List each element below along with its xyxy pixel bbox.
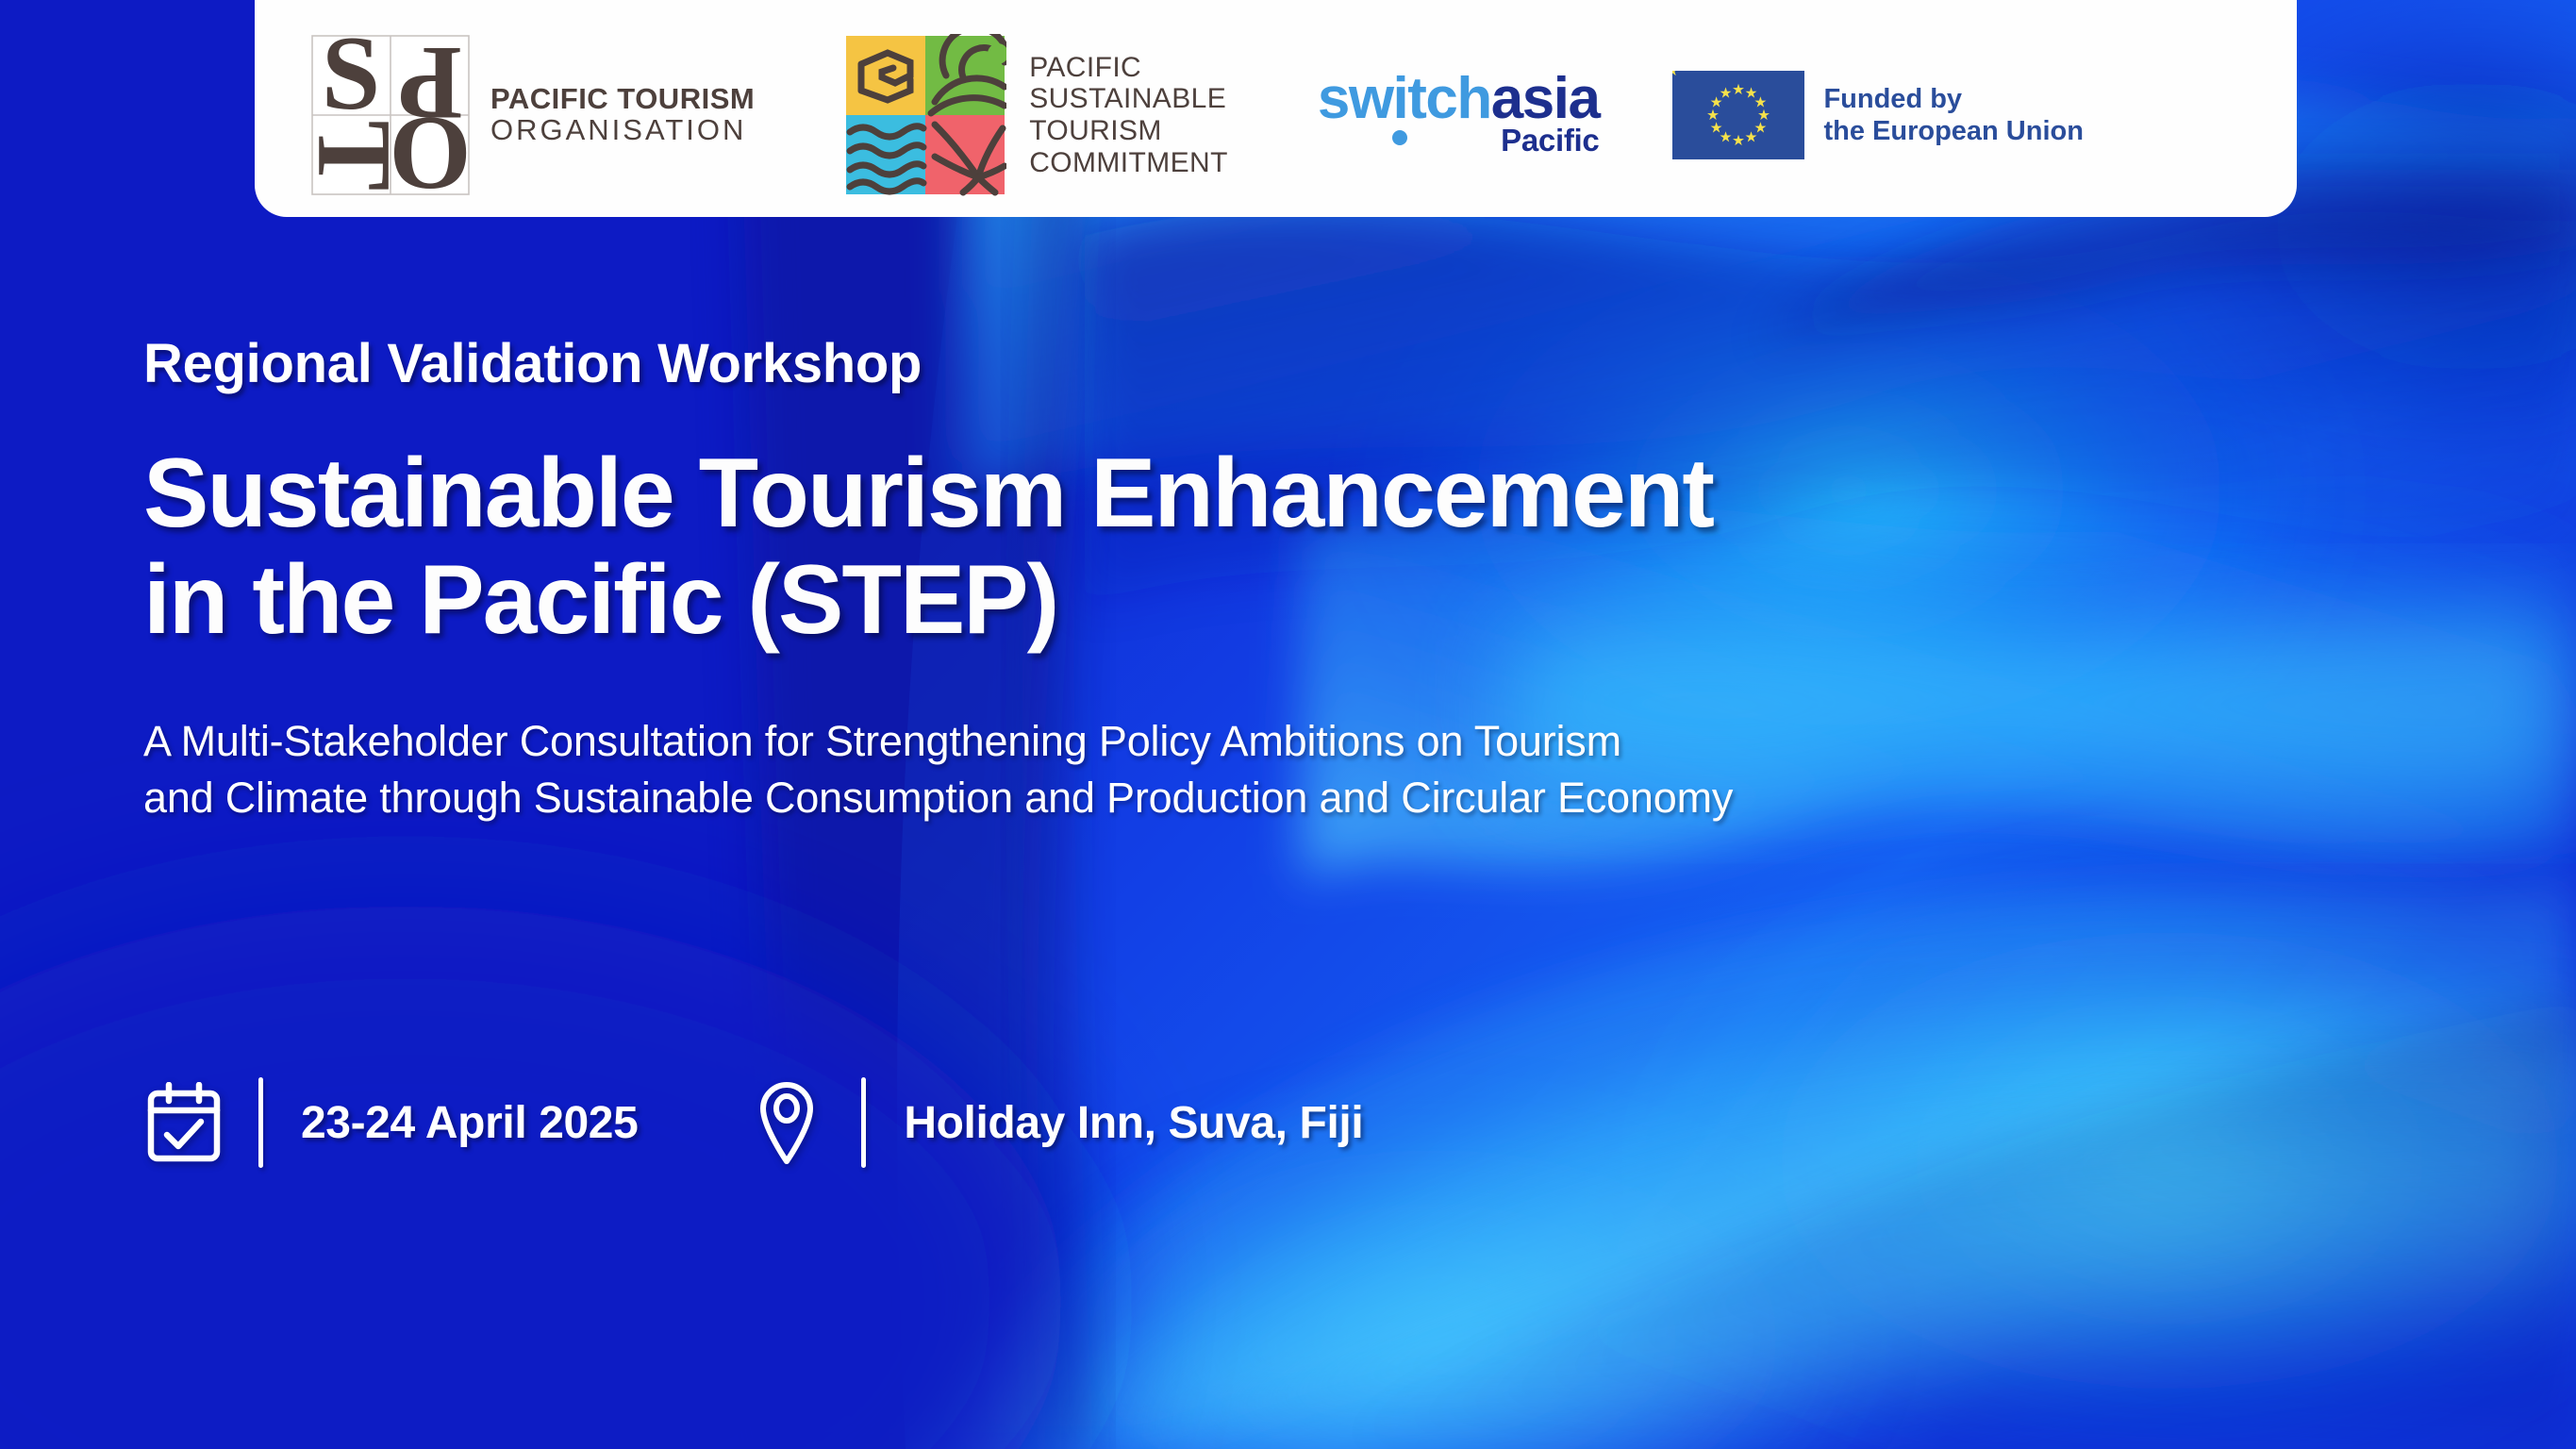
page-subtitle-line1: A Multi-Stakeholder Consultation for Str… — [143, 713, 1733, 770]
eyebrow-text: Regional Validation Workshop — [143, 332, 1733, 395]
hero-content: Regional Validation Workshop Sustainable… — [143, 332, 1733, 825]
pstc-label-line2: SUSTAINABLE — [1029, 83, 1228, 115]
spto-label-line1: PACIFIC TOURISM — [490, 84, 755, 115]
pstc-label-line1: PACIFIC — [1029, 52, 1228, 84]
spto-label-line2: ORGANISATION — [490, 115, 755, 146]
event-meta-row: 23-24 April 2025 Holiday Inn, Suva, Fiji — [143, 1075, 1363, 1170]
spto-monogram-icon: S P T O — [311, 35, 470, 195]
switchasia-wordmark: switchasia — [1318, 72, 1600, 127]
logo-switchasia-pacific: switchasia Pacific — [1318, 72, 1600, 159]
svg-text:S: S — [322, 35, 380, 132]
svg-text:O: O — [389, 94, 470, 195]
meta-divider — [258, 1077, 263, 1168]
logo-pacific-tourism-organisation: S P T O PACIFIC TOURISM ORGANISATION — [311, 35, 755, 195]
partner-logo-bar: S P T O PACIFIC TOURISM ORGANISATION — [255, 0, 2297, 217]
logo-funded-by-european-union: Funded by the European Union — [1672, 71, 2084, 159]
eu-flag-icon — [1672, 71, 1804, 159]
event-location-block: Holiday Inn, Suva, Fiji — [746, 1075, 1363, 1170]
switchasia-word-dark: asia — [1491, 66, 1600, 131]
switchasia-dot-icon — [1392, 130, 1407, 145]
eu-label-line1: Funded by — [1823, 83, 2084, 115]
page-title-line1: Sustainable Tourism Enhancement — [143, 441, 1733, 547]
event-date-text: 23-24 April 2025 — [301, 1097, 638, 1149]
map-pin-icon — [746, 1075, 827, 1170]
page-subtitle-line2: and Climate through Sustainable Consumpt… — [143, 770, 1733, 826]
event-location-text: Holiday Inn, Suva, Fiji — [904, 1097, 1363, 1149]
switchasia-word-light: switch — [1318, 66, 1491, 131]
logo-pacific-sustainable-tourism-commitment: PACIFIC SUSTAINABLE TOURISM COMMITMENT — [844, 34, 1228, 196]
eu-label-line2: the European Union — [1823, 115, 2084, 147]
calendar-check-icon — [143, 1075, 224, 1170]
page-title: Sustainable Tourism Enhancement in the P… — [143, 441, 1733, 655]
page-subtitle: A Multi-Stakeholder Consultation for Str… — [143, 713, 1733, 826]
pstc-label-line3: TOURISM — [1029, 115, 1228, 147]
pstc-label-line4: COMMITMENT — [1029, 147, 1228, 179]
four-tile-motif-icon — [844, 34, 1006, 196]
event-date-block: 23-24 April 2025 — [143, 1075, 638, 1170]
meta-divider — [861, 1077, 866, 1168]
page-title-line2: in the Pacific (STEP) — [143, 547, 1733, 654]
